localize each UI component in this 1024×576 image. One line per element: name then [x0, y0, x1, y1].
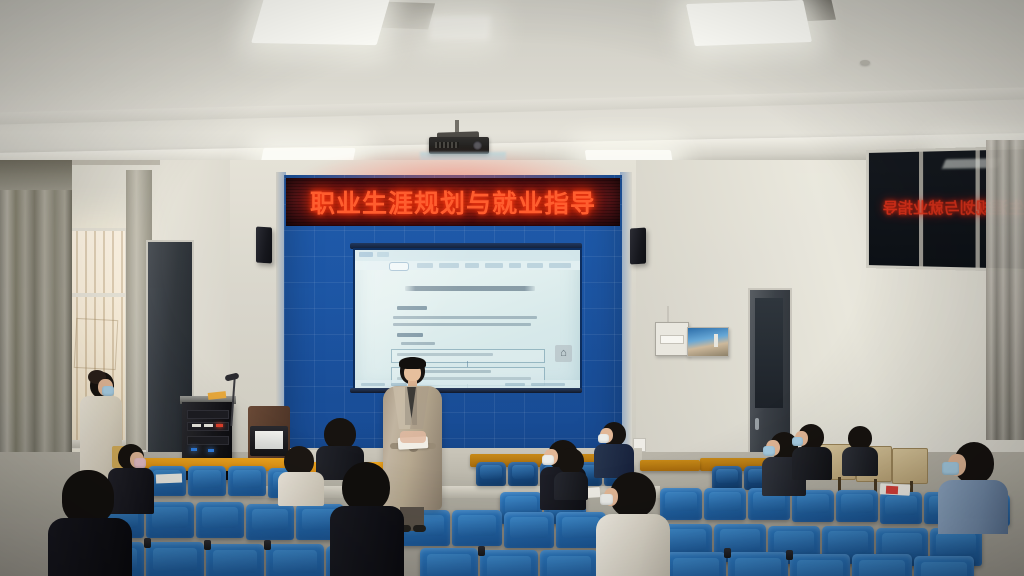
armrest	[786, 550, 793, 560]
jacket	[842, 447, 878, 476]
rack-indicator-light	[204, 424, 213, 427]
seat[interactable]	[704, 488, 746, 520]
attendee-mid-left-2	[278, 446, 324, 506]
smoke-detector-icon	[860, 60, 870, 65]
status-item	[505, 383, 525, 386]
seat[interactable]	[452, 510, 502, 546]
led-banner: 职业生涯规划与就业指导	[286, 178, 620, 226]
face-mask	[792, 437, 803, 446]
projector-vent-icon	[435, 142, 459, 148]
presenter-hands	[400, 431, 426, 443]
seat[interactable]	[666, 552, 726, 576]
curtain-left	[0, 160, 72, 480]
document-text-line	[397, 353, 493, 356]
document-text-line	[393, 323, 531, 326]
seat[interactable]	[266, 544, 324, 576]
ribbon-tab	[359, 252, 373, 257]
document-text-line	[401, 342, 435, 345]
rack-indicator-light	[192, 424, 201, 427]
presenter-hair-fringe	[399, 357, 426, 369]
face-mask	[942, 462, 959, 475]
toolbar-button	[527, 263, 543, 268]
ribbon-tab	[377, 252, 389, 257]
shirt	[938, 480, 1008, 534]
toolbar-logo-icon	[389, 262, 409, 271]
seat[interactable]	[712, 466, 742, 490]
door-glass	[755, 298, 783, 408]
curtain-right	[986, 140, 1024, 440]
wall-control-panel	[655, 322, 689, 356]
seat[interactable]	[540, 550, 598, 576]
wooden-chair[interactable]	[892, 448, 928, 484]
seat[interactable]	[790, 554, 850, 576]
seat[interactable]	[188, 466, 226, 496]
seat[interactable]	[504, 512, 554, 548]
jacket	[278, 472, 324, 506]
seat[interactable]	[196, 502, 244, 538]
attendee-center-white-coat	[596, 472, 670, 576]
document-ribbon-tabs	[355, 250, 580, 261]
attendee-front-left-3	[330, 462, 404, 576]
home-icon: ⌂	[555, 345, 572, 362]
armrest	[204, 540, 211, 550]
armrest	[724, 548, 731, 558]
seat[interactable]	[206, 544, 264, 576]
head	[342, 462, 390, 512]
jacket	[792, 447, 832, 480]
seat[interactable]	[420, 548, 478, 576]
photo-tower-detail	[714, 334, 718, 347]
jacket	[48, 518, 132, 576]
seat[interactable]	[852, 554, 912, 576]
rack-indicator-light	[216, 424, 223, 427]
attendee-far-right	[842, 426, 878, 476]
seat[interactable]	[146, 542, 204, 576]
ceiling-panel-light	[251, 0, 391, 45]
ceiling-panel-light	[686, 0, 812, 46]
face-mask	[763, 446, 775, 456]
document-text-line	[393, 316, 537, 319]
window-outer-structure	[74, 318, 119, 370]
seat[interactable]	[480, 550, 538, 576]
seat[interactable]	[836, 490, 878, 522]
attendee-right-blue-shirt	[938, 442, 1008, 534]
attendee-center-2	[554, 448, 588, 500]
attendee-right-2	[792, 424, 832, 480]
jacket	[330, 506, 404, 576]
seat[interactable]	[880, 492, 922, 524]
document-title-line	[405, 286, 535, 291]
seat[interactable]	[508, 462, 538, 486]
seat[interactable]	[246, 504, 294, 540]
seat[interactable]	[914, 556, 974, 576]
framed-landscape-photo	[687, 327, 729, 357]
toolbar-button	[417, 263, 433, 268]
head	[62, 470, 114, 524]
wall-speaker-right	[630, 227, 646, 264]
toolbar-button	[509, 263, 521, 268]
armrest	[144, 538, 151, 548]
attendee-front-left-2	[48, 470, 132, 576]
face-mask	[542, 455, 554, 465]
face-mask	[102, 386, 114, 396]
papers-on-desk	[156, 474, 182, 484]
wall-speaker-left	[256, 226, 272, 263]
status-item	[531, 383, 565, 386]
lecture-hall-photo: 职业生涯规划与就业指导	[0, 0, 1024, 576]
seat[interactable]	[728, 552, 788, 576]
desk-row	[640, 460, 700, 471]
control-panel-strip	[660, 335, 684, 344]
rack-bay	[187, 410, 229, 419]
head	[558, 448, 584, 474]
toolbar-button	[465, 263, 479, 268]
armrest	[478, 546, 485, 556]
window-mullion	[67, 293, 125, 297]
toolbar-button	[549, 263, 571, 268]
red-document	[886, 486, 898, 495]
toolbar-button	[439, 263, 459, 268]
face-mask	[134, 458, 146, 468]
led-banner-text: 职业生涯规划与就业指导	[310, 184, 596, 220]
seat[interactable]	[476, 462, 506, 486]
ceiling-panel-light	[429, 16, 491, 40]
projector-lens-icon	[473, 141, 482, 150]
presenter-shoe	[413, 525, 426, 532]
face-mask	[600, 494, 613, 505]
attendee-back-center	[594, 422, 634, 478]
document-heading	[397, 306, 427, 310]
face-mask	[598, 434, 609, 443]
jacket	[596, 514, 670, 576]
door-handle[interactable]	[755, 418, 759, 430]
seat[interactable]	[228, 466, 266, 496]
document-heading	[397, 333, 423, 337]
armrest	[264, 540, 271, 550]
toolbar-button	[485, 263, 503, 268]
jacket	[554, 472, 588, 500]
